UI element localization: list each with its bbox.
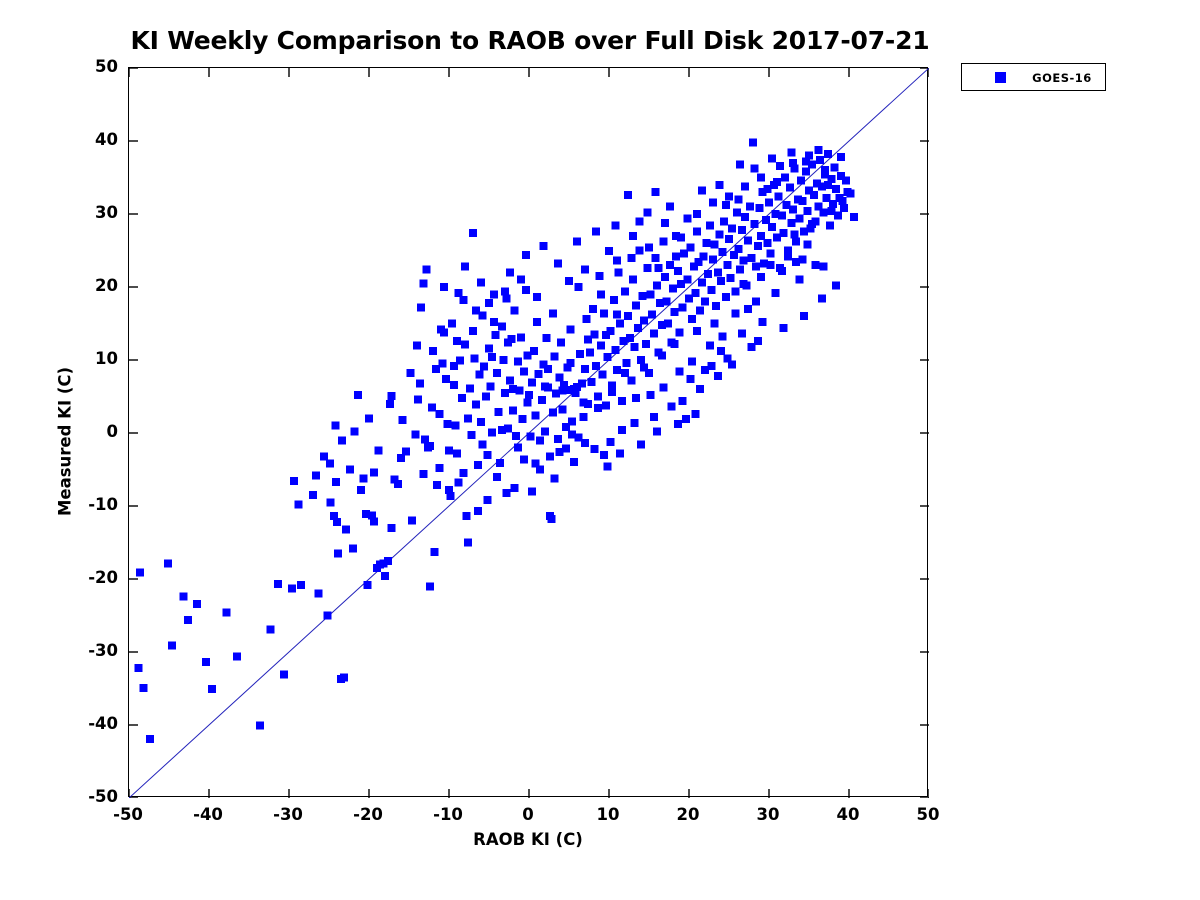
y-tick-label: 20	[58, 278, 118, 295]
x-tick-label: -10	[413, 807, 483, 824]
legend-marker-goes-16	[995, 72, 1006, 83]
data-points-goes-16	[135, 138, 858, 742]
x-tick-label: -30	[253, 807, 323, 824]
y-tick-label: 50	[58, 59, 118, 76]
y-tick-label: -40	[58, 716, 118, 733]
x-tick-label: 30	[733, 807, 803, 824]
chart-figure: KI Weekly Comparison to RAOB over Full D…	[0, 0, 1200, 900]
y-tick-label: -30	[58, 643, 118, 660]
page-title: KI Weekly Comparison to RAOB over Full D…	[0, 26, 1060, 55]
x-tick-label: 0	[493, 807, 563, 824]
y-tick-label: -20	[58, 570, 118, 587]
y-tick-label: 30	[58, 205, 118, 222]
x-tick-label: -50	[93, 807, 163, 824]
y-tick-label: 40	[58, 132, 118, 149]
plot-area	[128, 67, 928, 797]
y-axis-label: Measured KI (C)	[56, 342, 75, 542]
legend-label-goes-16: GOES-16	[1022, 71, 1102, 85]
x-tick-label: 50	[893, 807, 963, 824]
x-tick-label: 10	[573, 807, 643, 824]
x-tick-label: -20	[333, 807, 403, 824]
x-tick-label: 40	[813, 807, 883, 824]
legend: GOES-16	[961, 63, 1106, 91]
scatter-plot-canvas	[129, 68, 929, 798]
x-tick-label: -40	[173, 807, 243, 824]
x-axis-label: RAOB KI (C)	[128, 830, 928, 849]
y-tick-label: -50	[58, 789, 118, 806]
x-tick-label: 20	[653, 807, 723, 824]
